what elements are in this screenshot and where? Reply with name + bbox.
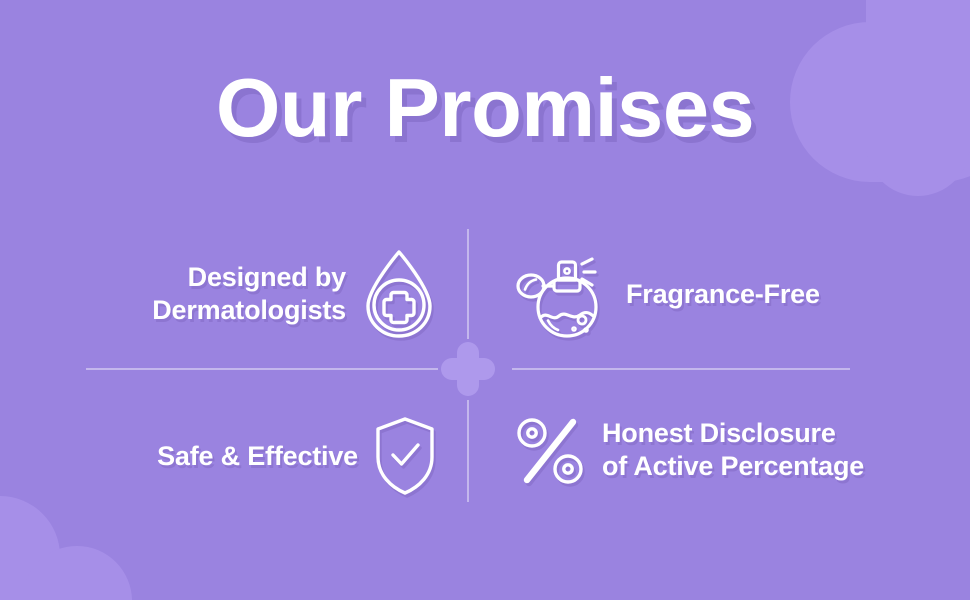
center-cross-ornament (441, 342, 495, 396)
page-title: Our Promises (0, 55, 970, 161)
promise-line: Honest Disclosure (602, 417, 864, 450)
promise-label-safe-and-effective: Safe & Effective (157, 440, 358, 473)
divider-vertical-top (467, 229, 469, 339)
promise-line: of Active Percentage (602, 450, 864, 483)
water-drop-medical-cross-icon (360, 248, 438, 340)
decor-bottom-left-small-round (22, 546, 132, 600)
promise-designed-by-dermatologists: Designed by Dermatologists (86, 248, 438, 340)
perfume-bottle-icon (512, 246, 612, 342)
center-cross-horizontal-bar (441, 358, 495, 380)
promises-banner: Our Promises Designed by Dermatologists (0, 0, 970, 600)
promise-line: Designed by (152, 261, 346, 294)
percent-sign-icon (512, 411, 588, 489)
divider-horizontal-left (86, 368, 438, 370)
shield-check-icon (372, 415, 438, 497)
divider-vertical-bottom (467, 400, 469, 502)
promise-honest-disclosure: Honest Disclosure of Active Percentage (512, 404, 912, 496)
promise-safe-and-effective: Safe & Effective (86, 410, 438, 502)
promise-label-honest-disclosure: Honest Disclosure of Active Percentage (602, 417, 864, 483)
divider-horizontal-right (512, 368, 850, 370)
promise-fragrance-free: Fragrance-Free (512, 248, 872, 340)
promise-line: Dermatologists (152, 294, 346, 327)
promise-line: Fragrance-Free (626, 278, 820, 311)
promise-label-fragrance-free: Fragrance-Free (626, 278, 820, 311)
promise-label-designed-by-dermatologists: Designed by Dermatologists (152, 261, 346, 327)
promise-line: Safe & Effective (157, 440, 358, 473)
decor-bottom-left-large-round (0, 496, 60, 600)
